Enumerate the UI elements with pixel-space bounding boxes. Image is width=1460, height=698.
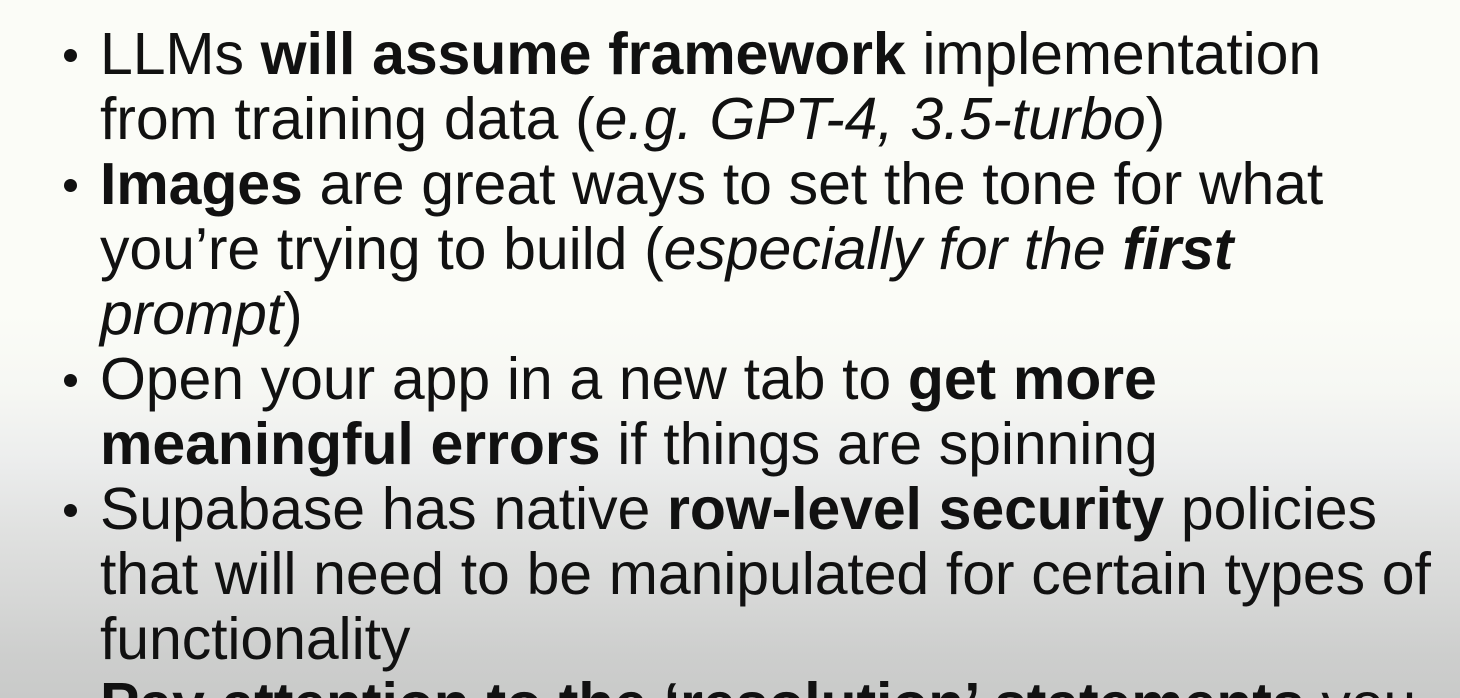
bullet-text: Images are great ways to set the tone fo… — [100, 152, 1442, 347]
bullet-resolution-statements: Pay attention to the ‘resolution’ statem… — [0, 672, 1460, 698]
bullet-point-icon — [64, 179, 77, 192]
bullet-point-icon — [64, 49, 77, 62]
bullet-text: Open your app in a new tab to get more m… — [100, 347, 1442, 477]
bullet-point-icon — [64, 374, 77, 387]
bullet-list: LLMs will assume framework implementatio… — [0, 22, 1460, 698]
bullet-llms-assume-framework: LLMs will assume framework implementatio… — [0, 22, 1460, 152]
slide-canvas: LLMs will assume framework implementatio… — [0, 0, 1460, 698]
bullet-text: Supabase has native row-level security p… — [100, 477, 1442, 672]
bullet-text: LLMs will assume framework implementatio… — [100, 22, 1442, 152]
bullet-text: Pay attention to the ‘resolution’ statem… — [100, 672, 1442, 698]
bullet-point-icon — [64, 504, 77, 517]
bullet-supabase-row-level-security: Supabase has native row-level security p… — [0, 477, 1460, 672]
bullet-open-app-new-tab: Open your app in a new tab to get more m… — [0, 347, 1460, 477]
bullet-images-set-tone: Images are great ways to set the tone fo… — [0, 152, 1460, 347]
